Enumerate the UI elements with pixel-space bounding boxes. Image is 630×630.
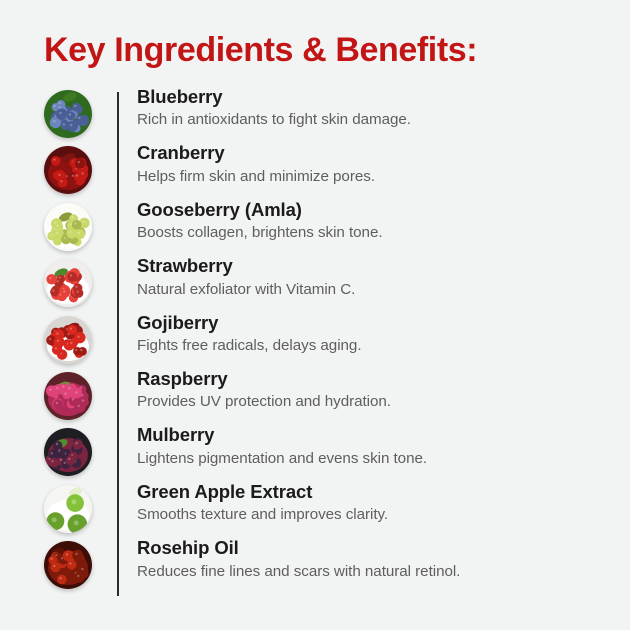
ingredient-row: GojiberryFights free radicals, delays ag… <box>0 314 630 370</box>
ingredient-text-block: Gooseberry (Amla)Boosts collagen, bright… <box>137 198 607 244</box>
ingredient-description: Natural exfoliator with Vitamin C. <box>137 280 607 301</box>
ingredient-row: MulberryLightens pigmentation and evens … <box>0 426 630 482</box>
ingredient-row: BlueberryRich in antioxidants to fight s… <box>0 88 630 144</box>
ingredient-text-block: MulberryLightens pigmentation and evens … <box>137 423 607 469</box>
ingredient-row: Gooseberry (Amla)Boosts collagen, bright… <box>0 201 630 257</box>
ingredient-text-block: RaspberryProvides UV protection and hydr… <box>137 367 607 413</box>
ingredient-description: Fights free radicals, delays aging. <box>137 336 607 357</box>
ingredient-name: Raspberry <box>137 367 607 391</box>
ingredient-name: Gojiberry <box>137 311 607 335</box>
ingredient-row: CranberryHelps firm skin and minimize po… <box>0 144 630 200</box>
strawberry-icon <box>44 259 92 307</box>
ingredient-description: Lightens pigmentation and evens skin ton… <box>137 449 607 470</box>
ingredient-name: Gooseberry (Amla) <box>137 198 607 222</box>
ingredient-row: Rosehip OilReduces fine lines and scars … <box>0 539 630 595</box>
cranberry-icon <box>44 146 92 194</box>
ingredient-name: Rosehip Oil <box>137 536 607 560</box>
ingredient-description: Provides UV protection and hydration. <box>137 392 607 413</box>
ingredient-description: Boosts collagen, brightens skin tone. <box>137 223 607 244</box>
ingredient-text-block: GojiberryFights free radicals, delays ag… <box>137 311 607 357</box>
ingredient-text-block: CranberryHelps firm skin and minimize po… <box>137 141 607 187</box>
ingredient-text-block: StrawberryNatural exfoliator with Vitami… <box>137 254 607 300</box>
ingredient-name: Blueberry <box>137 85 607 109</box>
ingredient-name: Mulberry <box>137 423 607 447</box>
ingredient-description: Helps firm skin and minimize pores. <box>137 167 607 188</box>
ingredient-description: Rich in antioxidants to fight skin damag… <box>137 110 607 131</box>
ingredient-row: StrawberryNatural exfoliator with Vitami… <box>0 257 630 313</box>
ingredient-text-block: BlueberryRich in antioxidants to fight s… <box>137 85 607 131</box>
ingredient-text-block: Rosehip OilReduces fine lines and scars … <box>137 536 607 582</box>
ingredient-row: Green Apple ExtractSmooths texture and i… <box>0 483 630 539</box>
ingredients-list: BlueberryRich in antioxidants to fight s… <box>0 88 630 600</box>
green-apple-icon <box>44 485 92 533</box>
ingredient-name: Cranberry <box>137 141 607 165</box>
gooseberry-icon <box>44 203 92 251</box>
ingredient-row: RaspberryProvides UV protection and hydr… <box>0 370 630 426</box>
ingredient-name: Green Apple Extract <box>137 480 607 504</box>
ingredient-name: Strawberry <box>137 254 607 278</box>
blueberry-icon <box>44 90 92 138</box>
ingredient-description: Smooths texture and improves clarity. <box>137 505 607 526</box>
gojiberry-icon <box>44 316 92 364</box>
page-title: Key Ingredients & Benefits: <box>44 30 477 71</box>
ingredient-description: Reduces fine lines and scars with natura… <box>137 562 607 583</box>
rosehip-oil-icon <box>44 541 92 589</box>
ingredient-text-block: Green Apple ExtractSmooths texture and i… <box>137 480 607 526</box>
mulberry-icon <box>44 428 92 476</box>
ingredients-infographic: Key Ingredients & Benefits: BlueberryRic… <box>0 0 630 630</box>
raspberry-icon <box>44 372 92 420</box>
